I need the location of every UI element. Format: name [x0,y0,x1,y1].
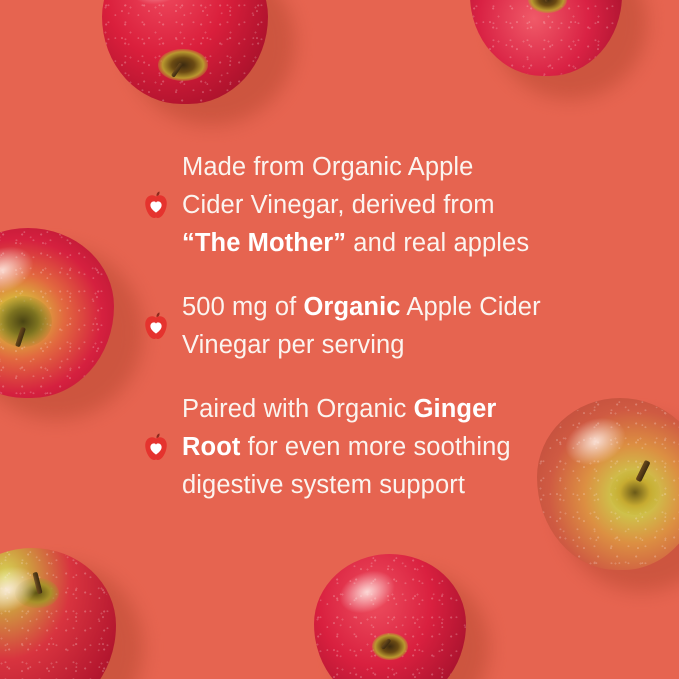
apple-calyx [158,49,208,81]
apple-shadow [334,570,489,679]
apple-speckle-texture [470,0,622,76]
apple-heart-icon [144,312,168,340]
feature-bullet-item-3: Paired with Organic Ginger Root for even… [0,390,679,504]
apple-body [102,0,268,104]
apple-speckle-texture [314,554,466,679]
apple-stem [543,0,549,2]
product-feature-panel: Made from Organic Apple Cider Vinegar, d… [0,0,679,679]
apple-shadow [0,562,144,679]
apple-speckle-texture [0,548,116,679]
bullet-plain: 500 mg of [182,293,304,321]
bullet-emphasis: “The Mother” [182,229,346,257]
feature-bullet-text: Paired with Organic Ginger Root for even… [182,390,542,504]
apple-photo-top-left [102,0,268,104]
feature-bullet-item-1: Made from Organic Apple Cider Vinegar, d… [0,148,679,262]
apple-photo-top-right [470,0,622,76]
bullet-emphasis: Organic [304,293,401,321]
apple-heart-icon [144,191,168,219]
apple-calyx [528,0,568,13]
apple-photo-bottom-left [0,548,116,679]
apple-body [0,548,116,679]
apple-calyx [15,578,59,608]
apple-body [470,0,622,76]
apple-calyx [372,633,408,660]
feature-bullet-list: Made from Organic Apple Cider Vinegar, d… [0,148,679,504]
bullet-plain: Made from Organic Apple Cider Vinegar, d… [182,153,495,219]
apple-photo-bottom-center [314,554,466,679]
apple-stem [33,571,43,594]
apple-stem [381,638,392,650]
feature-bullet-item-2: 500 mg of Organic Apple Cider Vinegar pe… [0,288,679,364]
apple-shadow [492,0,647,100]
apple-speckle-texture [102,0,268,104]
apple-shadow [126,0,295,126]
apple-stem [171,62,183,78]
feature-bullet-text: Made from Organic Apple Cider Vinegar, d… [182,148,542,262]
bullet-plain: and real apples [346,229,529,257]
bullet-plain: Paired with Organic [182,395,414,423]
apple-body [314,554,466,679]
apple-heart-icon [144,433,168,461]
feature-bullet-text: 500 mg of Organic Apple Cider Vinegar pe… [182,288,542,364]
